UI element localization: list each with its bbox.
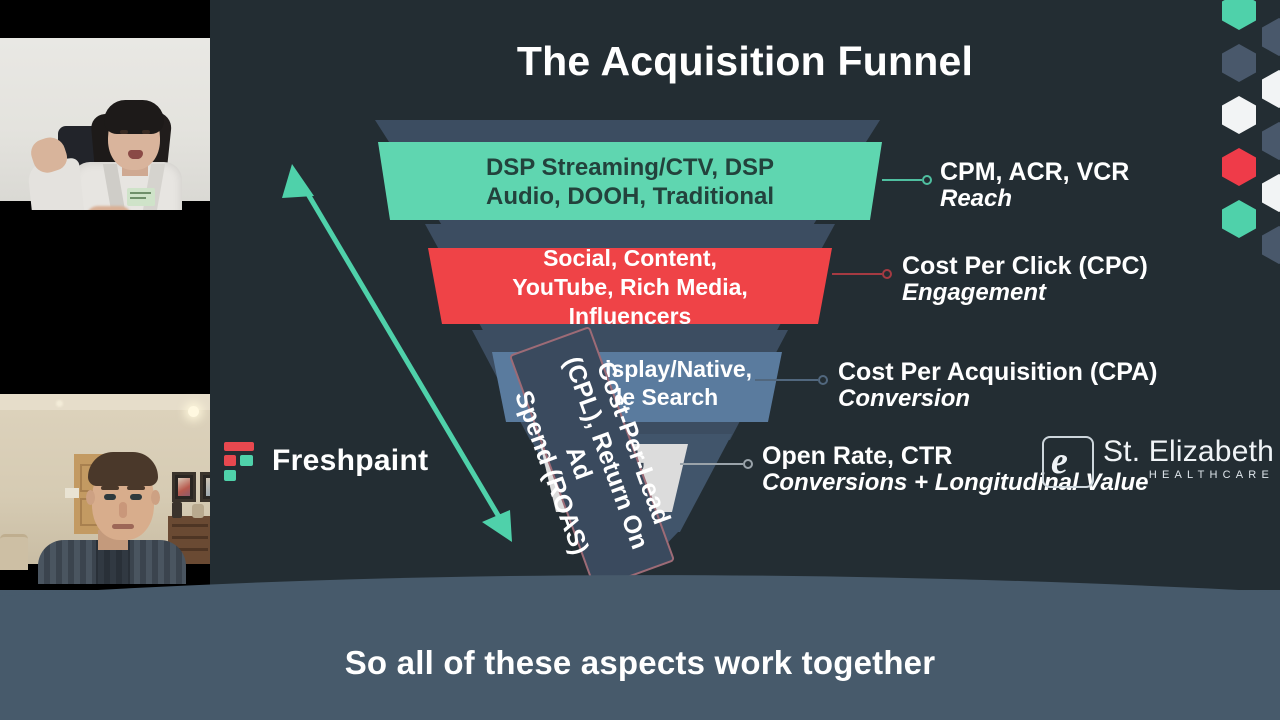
connector-dot-3 — [819, 376, 827, 384]
eye-left-shape — [120, 130, 128, 134]
webcam-image-man — [0, 394, 210, 564]
hexagon-icon — [1222, 44, 1256, 82]
funnel-band-2-line3: Influencers — [428, 302, 832, 331]
caption-text: So all of these aspects work together — [0, 644, 1280, 682]
funnel-band-1-line1: DSP Streaming/CTV, DSP — [378, 154, 882, 183]
hexagon-icon — [1262, 70, 1280, 108]
st-elizabeth-e-glyph: e — [1051, 444, 1068, 478]
connector-dot-1 — [923, 176, 931, 184]
metric-stage-3: Conversion — [838, 386, 1157, 413]
ear-right-shape — [151, 490, 160, 505]
metric-name-1: CPM, ACR, VCR — [940, 158, 1129, 186]
metric-stage-1: Reach — [940, 186, 1129, 213]
metric-label-3: Cost Per Acquisition (CPA) Conversion — [838, 358, 1157, 413]
nose-shape — [119, 502, 127, 518]
funnel-band-2-text: Social, Content, YouTube, Rich Media, In… — [428, 244, 832, 330]
eyebrow-right-shape — [127, 486, 145, 490]
eyebrow-left-shape — [101, 486, 119, 490]
lamp-light-shape — [188, 406, 199, 417]
funnel-band-2-line2: YouTube, Rich Media, — [428, 273, 832, 302]
funnel-band-2-line1: Social, Content, — [428, 244, 832, 273]
freshpaint-mark-icon — [224, 442, 258, 480]
eye-left-shape — [104, 494, 116, 500]
framed-art-two — [200, 472, 210, 502]
st-elizabeth-name: St. Elizabeth — [1103, 436, 1274, 468]
cost-per-lead-callout: Cost-Per-Lead (CPL), Return On Ad Spend … — [509, 326, 675, 590]
slide-title: The Acquisition Funnel — [210, 38, 1280, 85]
ear-left-shape — [86, 490, 95, 505]
wall-plate-shape — [65, 488, 79, 498]
shared-slide[interactable]: The Acquisition Funnel — [210, 0, 1280, 600]
st-elizabeth-mark-icon: e — [1042, 436, 1094, 488]
hair-shape — [88, 452, 158, 486]
webcam-image-woman — [0, 38, 210, 201]
freshpaint-name: Freshpaint — [272, 444, 428, 478]
ceiling-light-shape — [56, 400, 63, 407]
st-elizabeth-logo: e St. Elizabeth HEALTHCARE — [1042, 436, 1274, 488]
metric-label-2: Cost Per Click (CPC) Engagement — [902, 252, 1148, 307]
eye-right-shape — [142, 130, 150, 134]
framed-art-one — [172, 472, 196, 502]
name-badge-shape — [127, 188, 155, 206]
cost-per-lead-callout-wrapper: Cost-Per-Lead (CPL), Return On Ad Spend … — [405, 327, 655, 413]
hair-top-shape — [104, 100, 164, 134]
freshpaint-logo: Freshpaint — [224, 442, 428, 480]
mouth-shape — [128, 150, 143, 159]
st-elizabeth-wordmark: St. Elizabeth HEALTHCARE — [1103, 436, 1274, 481]
metric-name-2: Cost Per Click (CPC) — [902, 252, 1148, 280]
cost-arrow-head-up — [282, 164, 314, 198]
metric-label-1: CPM, ACR, VCR Reach — [940, 158, 1129, 213]
hexagon-icon — [1222, 0, 1256, 30]
connector-dot-2 — [883, 270, 891, 278]
connector-dot-4 — [744, 460, 752, 468]
couch-shape — [0, 534, 28, 570]
participant-video-column — [0, 0, 210, 600]
vase-shape — [172, 502, 182, 518]
metric-name-3: Cost Per Acquisition (CPA) — [838, 358, 1157, 386]
hexagon-icon — [1262, 18, 1280, 56]
metric-stage-2: Engagement — [902, 280, 1148, 307]
participant-video-woman[interactable] — [0, 0, 210, 210]
ceiling-shape — [0, 394, 210, 410]
acquisition-funnel-diagram: DSP Streaming/CTV, DSP Audio, DOOH, Trad… — [210, 112, 1280, 542]
caption-curve-divider — [0, 566, 1280, 612]
funnel-band-1-line2: Audio, DOOH, Traditional — [378, 183, 882, 212]
meeting-screen: The Acquisition Funnel — [0, 0, 1280, 720]
mouth-shape — [112, 524, 134, 529]
video-frame-man — [0, 394, 210, 564]
video-frame-woman — [0, 38, 210, 201]
st-elizabeth-subtitle: HEALTHCARE — [1103, 469, 1274, 481]
decor-shape — [192, 504, 204, 518]
funnel-band-1-text: DSP Streaming/CTV, DSP Audio, DOOH, Trad… — [378, 154, 882, 212]
eye-right-shape — [130, 494, 142, 500]
hand-lower-shape — [86, 206, 132, 210]
